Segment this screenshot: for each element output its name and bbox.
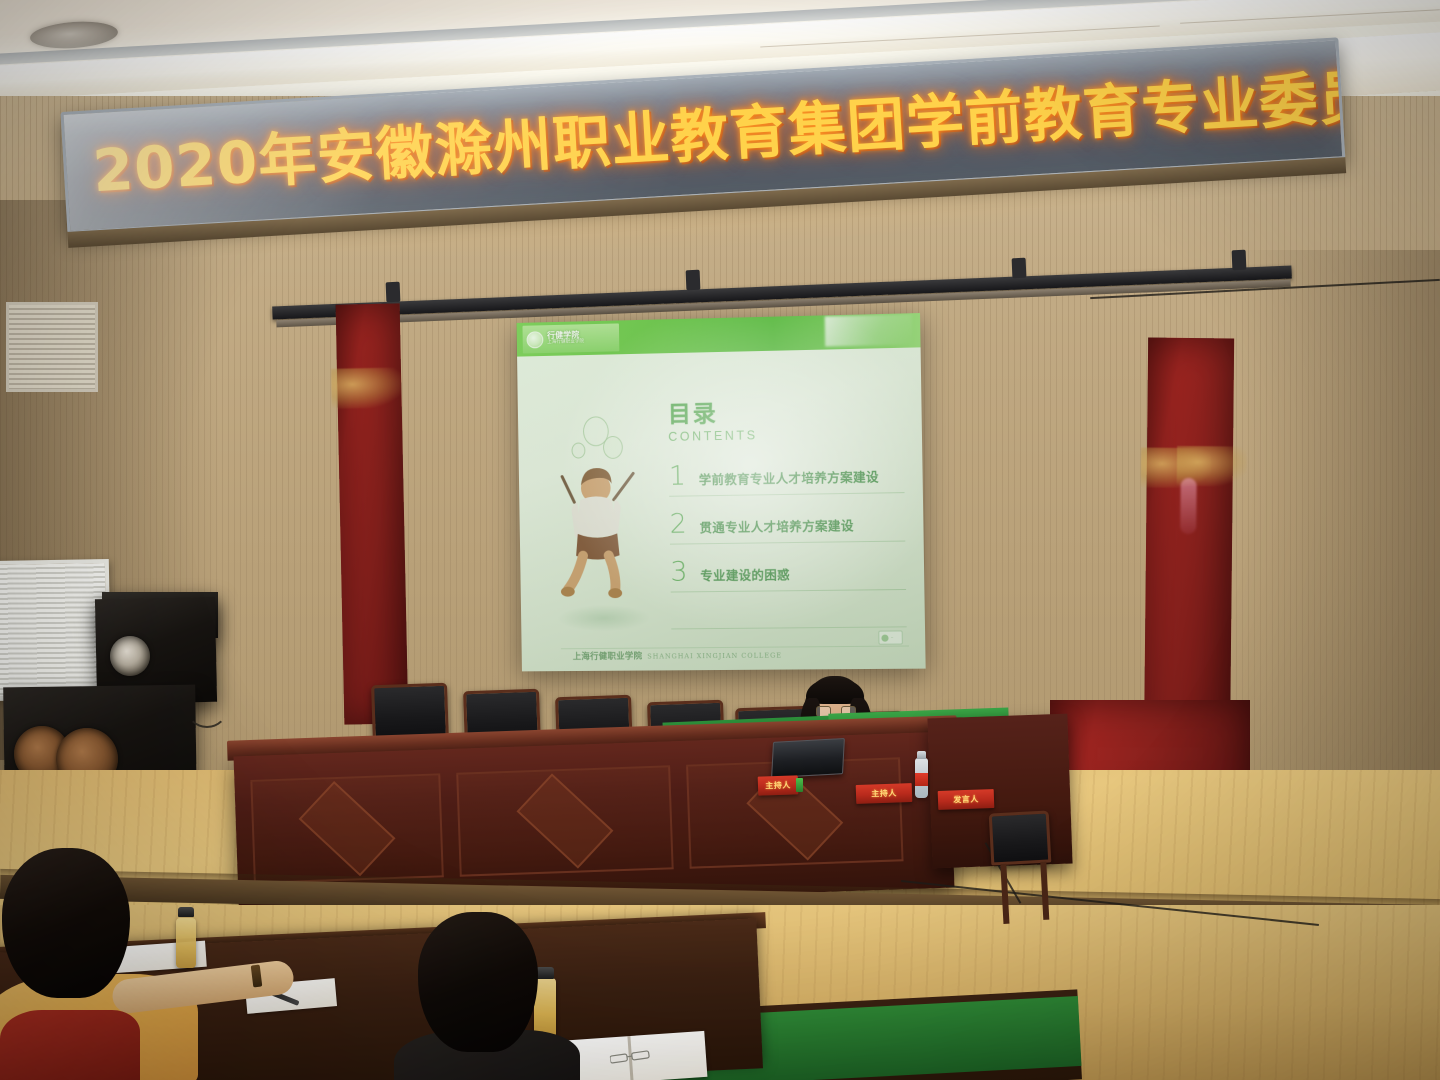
projection-screen: 行健学院 上海行健职业学院 [517, 313, 926, 671]
curtain-decoration [331, 367, 402, 408]
slide-toc-list: 1 学前教育专业人才培养方案建设 2 贯通专业人才培养方案建设 3 专业建设的困… [669, 462, 907, 629]
toc-item: 3 专业建设的困惑 [670, 559, 906, 593]
stage-curtain-left [336, 303, 409, 724]
projected-slide: 行健学院 上海行健职业学院 [517, 313, 926, 671]
college-logo-text: 行健学院 上海行健职业学院 [547, 332, 584, 346]
person-a-hair [2, 848, 130, 998]
slide-footer-cn: 上海行健职业学院 [573, 650, 643, 662]
slide-footer-en: SHANGHAI XINGJIAN COLLEGE [647, 652, 782, 661]
person-a-chair-back [0, 1010, 140, 1080]
track-clamp [1232, 250, 1247, 271]
audience-person-front-right [400, 912, 610, 1080]
badge-dot-icon [881, 634, 888, 641]
track-clamp [1012, 258, 1027, 279]
bottle-cap [917, 751, 926, 759]
speaker-cable [186, 688, 228, 728]
marker-icon [796, 778, 803, 792]
college-logo: 行健学院 上海行健职业学院 [522, 323, 619, 353]
name-plate-text: 发言人 [953, 794, 979, 806]
wall-shadow-right [1240, 250, 1440, 770]
table-panel [250, 773, 444, 884]
name-plate-text: 主持人 [765, 780, 791, 792]
water-bottle-icon [915, 758, 928, 798]
air-vent-grille [0, 559, 111, 701]
toc-item-label: 贯通专业人才培养方案建设 [699, 519, 853, 536]
slide-corner-badge: ·· [878, 630, 903, 644]
curtain-tassel [1180, 478, 1197, 534]
speaker-horn-icon [110, 636, 150, 676]
circle-emblem-icon [526, 331, 543, 348]
toc-divider-row [671, 607, 907, 629]
name-plate: 主持人 [758, 775, 799, 795]
stage-chair[interactable] [989, 810, 1052, 865]
toc-item-number: 1 [669, 466, 688, 489]
slide-footer: 上海行健职业学院 SHANGHAI XINGJIAN COLLEGE [573, 649, 782, 663]
balloon-icon [571, 442, 585, 458]
name-plate: 主持人 [856, 783, 913, 804]
bottle-label [915, 773, 928, 786]
toc-item-number: 3 [670, 561, 689, 584]
toc-item-label: 学前教育专业人才培养方案建设 [699, 471, 879, 489]
name-plate-text: 主持人 [871, 788, 897, 800]
child-figure-icon [552, 457, 653, 607]
jumping-child-illustration [549, 409, 655, 609]
slide-title-en: CONTENTS [668, 426, 904, 444]
table-panel-diamond [299, 781, 396, 876]
name-plate: 发言人 [938, 789, 995, 810]
slide-header-glare [825, 314, 913, 346]
stage-curtain-right [1144, 338, 1234, 759]
slide-body: 目录 CONTENTS 1 学前教育专业人才培养方案建设 2 贯通专业人才培养方… [517, 347, 926, 671]
toc-item: 1 学前教育专业人才培养方案建设 [669, 462, 905, 497]
toc-item: 2 贯通专业人才培养方案建设 [669, 510, 905, 544]
ceiling-downlight-icon [29, 19, 119, 51]
toc-item-number: 2 [669, 514, 688, 537]
table-panel-diamond [516, 773, 613, 868]
toc-item-label: 专业建设的困惑 [700, 568, 790, 584]
person-b-hair [418, 912, 538, 1052]
table-panel [456, 765, 673, 876]
track-clamp [686, 270, 701, 291]
balloon-icon [603, 436, 623, 459]
air-vent-grille-upper [6, 302, 98, 392]
track-clamp [386, 282, 401, 303]
slide-contents-block: 目录 CONTENTS 1 学前教育专业人才培养方案建设 2 贯通专业人才培养方… [668, 398, 907, 629]
child-figure-shadow [558, 605, 649, 632]
college-logo-fullname: 上海行健职业学院 [547, 340, 584, 346]
slide-title-cn: 目录 [668, 398, 904, 427]
conference-hall-photo: 2020年安徽滁州职业教育集团学前教育专业委员会年度工作会议 行健学院 上海行健… [0, 0, 1440, 1080]
laptop-icon[interactable] [771, 738, 845, 778]
badge-label: ·· [891, 636, 894, 640]
